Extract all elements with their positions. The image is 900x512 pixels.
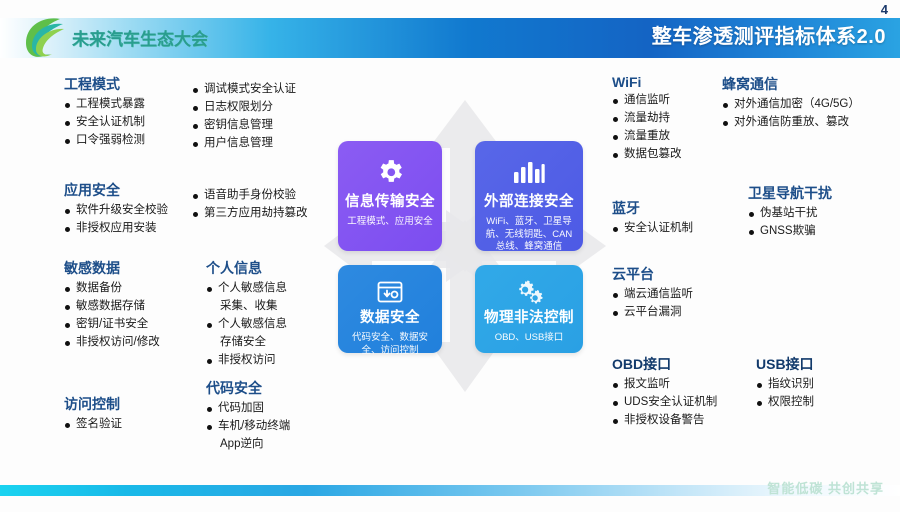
logo-text: 未来汽车生态大会: [72, 25, 208, 50]
swoosh-logo-icon: [20, 13, 70, 61]
list-item: 代码加固: [206, 401, 290, 417]
group-title: OBD接口: [612, 354, 717, 374]
group-list: 数据备份 敏感数据存储 密钥/证书安全 非授权访问/修改: [64, 281, 160, 351]
list-item: 报文监听: [612, 377, 717, 393]
group-list: 伪基站干扰 GNSS欺骗: [748, 206, 832, 240]
list-item: 对外通信防重放、篡改: [722, 115, 860, 131]
card-info-transmission-security[interactable]: 信息传输安全 工程模式、应用安全: [338, 141, 442, 251]
group-title: 卫星导航干扰: [748, 183, 832, 203]
list-item: 云平台漏洞: [612, 305, 693, 321]
list-item-continuation: 采集、收集: [206, 299, 287, 315]
group-title: USB接口: [756, 354, 814, 374]
group-title: 云平台: [612, 264, 693, 284]
slide-canvas: 4 整车渗透测评指标体系2.0 未来汽车生态大会 信息传输安全 工程模式、应用: [0, 0, 900, 512]
list-item: 语音助手身份校验: [192, 188, 308, 204]
brand-logo: 未来汽车生态大会: [20, 12, 235, 62]
card-title: 物理非法控制: [475, 309, 583, 327]
group-code-security: 代码安全 代码加固 车机/移动终端 App逆向: [206, 378, 290, 455]
group-application-security: 应用安全 软件升级安全校验 非授权应用安装: [64, 180, 168, 239]
group-list: 对外通信加密（4G/5G） 对外通信防重放、篡改: [722, 97, 860, 131]
list-item: 流量劫持: [612, 111, 682, 127]
group-cellular-communication: 蜂窝通信 对外通信加密（4G/5G） 对外通信防重放、篡改: [722, 74, 860, 133]
group-list: 报文监听 UDS安全认证机制 非授权设备警告: [612, 377, 717, 429]
list-item: 日志权限划分: [192, 100, 296, 116]
group-engineering-mode: 工程模式 工程模式暴露 安全认证机制 口令强弱检测: [64, 74, 145, 151]
group-list: 语音助手身份校验 第三方应用劫持篡改: [192, 188, 308, 222]
group-sensitive-data: 敏感数据 数据备份 敏感数据存储 密钥/证书安全 非授权访问/修改: [64, 258, 160, 353]
footer-gradient-bar: [0, 485, 900, 496]
card-subtitle: OBD、USB接口: [475, 332, 583, 345]
group-list: 安全认证机制: [612, 221, 693, 237]
group-title: 敏感数据: [64, 258, 160, 278]
list-item: 非授权设备警告: [612, 413, 717, 429]
list-item: 密钥信息管理: [192, 118, 296, 134]
list-item: 非授权访问/修改: [64, 335, 160, 351]
group-application-security-extra: 语音助手身份校验 第三方应用劫持篡改: [192, 188, 308, 224]
list-item: 车机/移动终端: [206, 419, 290, 435]
group-satellite-navigation-interference: 卫星导航干扰 伪基站干扰 GNSS欺骗: [748, 183, 832, 242]
list-item: 个人敏感信息: [206, 281, 287, 297]
list-item: 对外通信加密（4G/5G）: [722, 97, 860, 113]
list-item: 安全认证机制: [64, 115, 145, 131]
group-title: 工程模式: [64, 74, 145, 94]
list-item: 第三方应用劫持篡改: [192, 206, 308, 222]
list-item-continuation: 存储安全: [206, 335, 287, 351]
list-item: 个人敏感信息: [206, 317, 287, 333]
group-title: 蜂窝通信: [722, 74, 860, 94]
list-item: 通信监听: [612, 93, 682, 109]
page-title: 整车渗透测评指标体系2.0: [652, 22, 886, 52]
list-item: 调试模式安全认证: [192, 82, 296, 98]
group-title: 代码安全: [206, 378, 290, 398]
list-item: 数据备份: [64, 281, 160, 297]
list-item: 工程模式暴露: [64, 97, 145, 113]
list-item: 指纹识别: [756, 377, 814, 393]
card-subtitle: WiFi、蓝牙、卫星导航、无线钥匙、CAN总线、蜂窝通信: [475, 216, 583, 254]
group-cloud-platform: 云平台 端云通信监听 云平台漏洞: [612, 264, 693, 323]
list-item-continuation: App逆向: [206, 437, 290, 453]
footer-slogan: 智能低碳 共创共享: [767, 478, 884, 497]
group-title: 应用安全: [64, 180, 168, 200]
group-title: 蓝牙: [612, 198, 693, 218]
list-item: 伪基站干扰: [748, 206, 832, 222]
download-window-icon: [338, 275, 442, 309]
card-subtitle: 工程模式、应用安全: [338, 216, 442, 229]
list-item: 非授权应用安装: [64, 221, 168, 237]
card-physical-illegal-control[interactable]: 物理非法控制 OBD、USB接口: [475, 265, 583, 353]
card-title: 信息传输安全: [338, 193, 442, 211]
group-title: 个人信息: [206, 258, 287, 278]
group-list: 指纹识别 权限控制: [756, 377, 814, 411]
card-data-security[interactable]: 数据安全 代码安全、数据安全、访问控制: [338, 265, 442, 353]
group-list: 通信监听 流量劫持 流量重放 数据包篡改: [612, 93, 682, 163]
group-list: 代码加固 车机/移动终端 App逆向: [206, 401, 290, 453]
card-subtitle: 代码安全、数据安全、访问控制: [338, 332, 442, 357]
card-title: 外部连接安全: [475, 193, 583, 211]
double-gear-icon: [475, 275, 583, 309]
list-item: 数据包篡改: [612, 147, 682, 163]
list-item: 流量重放: [612, 129, 682, 145]
list-item: 敏感数据存储: [64, 299, 160, 315]
card-title: 数据安全: [338, 309, 442, 327]
list-item: 签名验证: [64, 417, 122, 433]
group-list: 工程模式暴露 安全认证机制 口令强弱检测: [64, 97, 145, 149]
page-number: 4: [881, 2, 888, 17]
list-item: 用户信息管理: [192, 136, 296, 152]
group-title: WiFi: [612, 74, 682, 90]
list-item: UDS安全认证机制: [612, 395, 717, 411]
list-item: GNSS欺骗: [748, 224, 832, 240]
list-item: 端云通信监听: [612, 287, 693, 303]
list-item: 权限控制: [756, 395, 814, 411]
card-external-connection-security[interactable]: 外部连接安全 WiFi、蓝牙、卫星导航、无线钥匙、CAN总线、蜂窝通信: [475, 141, 583, 251]
group-bluetooth: 蓝牙 安全认证机制: [612, 198, 693, 239]
group-access-control: 访问控制 签名验证: [64, 394, 122, 435]
group-list: 调试模式安全认证 日志权限划分 密钥信息管理 用户信息管理: [192, 82, 296, 152]
list-item: 安全认证机制: [612, 221, 693, 237]
group-list: 个人敏感信息 采集、收集 个人敏感信息 存储安全 非授权访问: [206, 281, 287, 369]
group-obd-interface: OBD接口 报文监听 UDS安全认证机制 非授权设备警告: [612, 354, 717, 431]
group-list: 端云通信监听 云平台漏洞: [612, 287, 693, 321]
signal-bars-icon: [475, 151, 583, 191]
group-list: 签名验证: [64, 417, 122, 433]
group-wifi: WiFi 通信监听 流量劫持 流量重放 数据包篡改: [612, 74, 682, 165]
list-item: 密钥/证书安全: [64, 317, 160, 333]
group-usb-interface: USB接口 指纹识别 权限控制: [756, 354, 814, 413]
gear-icon: [338, 151, 442, 191]
list-item: 非授权访问: [206, 353, 287, 369]
list-item: 软件升级安全校验: [64, 203, 168, 219]
group-title: 访问控制: [64, 394, 122, 414]
group-personal-information: 个人信息 个人敏感信息 采集、收集 个人敏感信息 存储安全 非授权访问: [206, 258, 287, 371]
group-list: 软件升级安全校验 非授权应用安装: [64, 203, 168, 237]
list-item: 口令强弱检测: [64, 133, 145, 149]
group-engineering-mode-extra: 调试模式安全认证 日志权限划分 密钥信息管理 用户信息管理: [192, 82, 296, 154]
